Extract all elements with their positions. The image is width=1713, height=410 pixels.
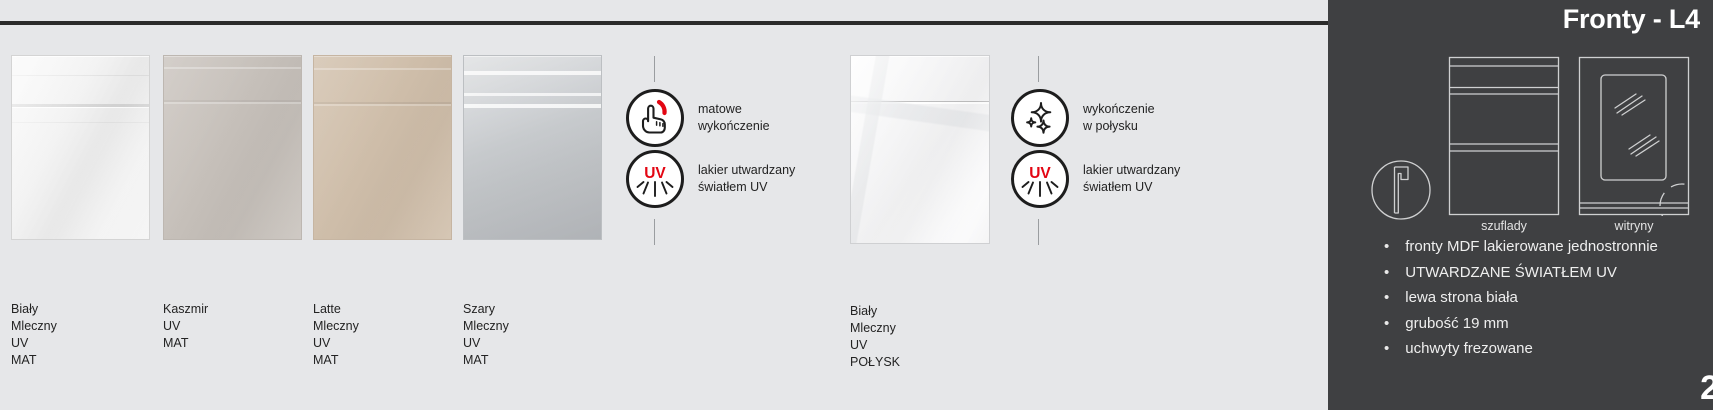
feature-matte-label: matowe wykończenie — [698, 101, 770, 135]
glass-cabinet-icon — [1578, 56, 1690, 221]
door-swatch-2 — [313, 55, 452, 240]
bullet-dot: • — [1384, 336, 1389, 362]
list-item: •lewa strona biała — [1384, 285, 1658, 311]
spec-text: grubość 19 mm — [1405, 311, 1508, 337]
feature-uv-gloss-label: lakier utwardzany światłem UV — [1083, 162, 1180, 196]
list-item: •uchwyty frezowane — [1384, 336, 1658, 362]
page-title: Fronty - L4 — [1563, 4, 1700, 35]
door-swatch-1 — [163, 55, 302, 240]
list-item: •UTWARDZANE ŚWIATŁEM UV — [1384, 260, 1658, 286]
spec-text: fronty MDF lakierowane jednostronnie — [1405, 234, 1658, 260]
sample-label-4: Biały Mleczny UVPOŁYSK — [850, 303, 900, 371]
sample-label-3: Szary Mleczny UVMAT — [463, 301, 509, 369]
divider-mat-top — [654, 56, 656, 82]
spec-text: UTWARDZANE ŚWIATŁEM UV — [1405, 260, 1617, 286]
svg-text:UV: UV — [1029, 165, 1051, 182]
catalog-page: Biały Mleczny UVMAT Kaszmir UVMAT Latte … — [0, 0, 1713, 410]
feature-uv-mat: UV lakier utwardzany światłem UV — [626, 150, 795, 208]
divider-mat-bottom — [654, 219, 656, 245]
top-divider-rule — [0, 21, 1328, 25]
uv-lamp-icon: UV — [1011, 150, 1069, 208]
sample-label-0: Biały Mleczny UVMAT — [11, 301, 57, 369]
list-item: •grubość 19 mm — [1384, 311, 1658, 337]
feature-matte-finish: matowe wykończenie — [626, 89, 770, 147]
sparkle-gloss-icon — [1011, 89, 1069, 147]
door-swatch-3 — [463, 55, 602, 240]
spec-text: uchwyty frezowane — [1405, 336, 1533, 362]
feature-uv-mat-label: lakier utwardzany światłem UV — [698, 162, 795, 196]
diagram-caption-szuflady: szuflady — [1448, 219, 1560, 233]
list-item: •fronty MDF lakierowane jednostronnie — [1384, 234, 1658, 260]
feature-uv-gloss: UV lakier utwardzany światłem UV — [1011, 150, 1180, 208]
feature-gloss-finish: wykończenie w połysku — [1011, 89, 1155, 147]
drawer-front-icon — [1448, 56, 1560, 221]
divider-gloss-bottom — [1038, 219, 1040, 245]
bullet-dot: • — [1384, 311, 1389, 337]
bullet-dot: • — [1384, 234, 1389, 260]
page-number: 2 — [1700, 369, 1713, 408]
sample-label-1: Kaszmir UVMAT — [163, 301, 208, 352]
bullet-dot: • — [1384, 260, 1389, 286]
bullet-dot: • — [1384, 285, 1389, 311]
divider-gloss-top — [1038, 56, 1040, 82]
sample-label-2: Latte Mleczny UVMAT — [313, 301, 359, 369]
door-swatch-0 — [11, 55, 150, 240]
feature-gloss-label: wykończenie w połysku — [1083, 101, 1155, 135]
spec-list: •fronty MDF lakierowane jednostronnie •U… — [1384, 234, 1658, 362]
door-swatch-4 — [850, 55, 990, 244]
spec-text: lewa strona biała — [1405, 285, 1518, 311]
uv-lamp-icon: UV — [626, 150, 684, 208]
svg-text:UV: UV — [644, 165, 666, 182]
diagram-caption-witryny: witryny — [1578, 219, 1690, 233]
touch-matte-icon — [626, 89, 684, 147]
milled-handle-profile-icon — [1370, 159, 1432, 226]
